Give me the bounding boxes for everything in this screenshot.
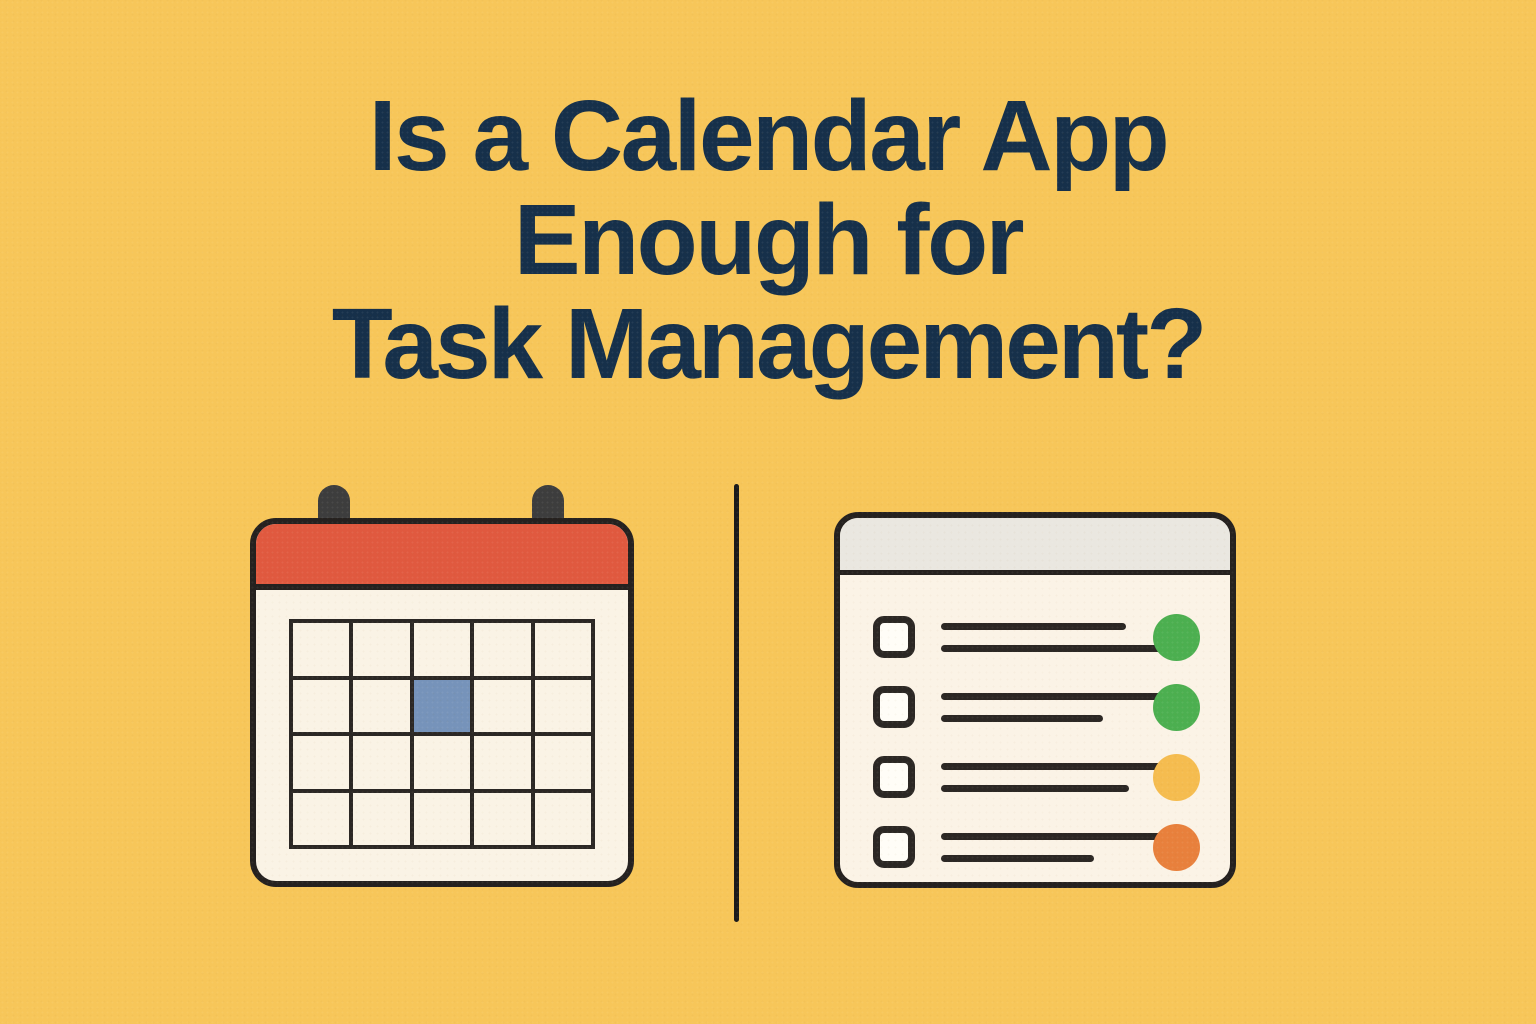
calendar-day-cell[interactable]	[535, 736, 595, 793]
task-status-dot[interactable]	[1153, 614, 1200, 661]
calendar-icon	[250, 485, 634, 887]
calendar-day-cell[interactable]	[293, 793, 353, 850]
calendar-day-cell[interactable]	[535, 793, 595, 850]
page-title-line-1: Is a Calendar App	[0, 84, 1536, 188]
calendar-day-cell[interactable]	[414, 623, 474, 680]
page-title-line-2: Enough for	[0, 188, 1536, 292]
calendar-day-cell[interactable]	[474, 623, 534, 680]
task-checkbox[interactable]	[873, 826, 915, 868]
calendar-day-cell[interactable]	[414, 736, 474, 793]
task-text-line	[941, 715, 1103, 722]
vertical-divider	[734, 484, 739, 922]
calendar-grid	[289, 619, 595, 849]
task-text-line	[941, 785, 1129, 792]
page-title-line-3: Task Management?	[0, 292, 1536, 396]
task-status-dot[interactable]	[1153, 684, 1200, 731]
task-text-line	[941, 623, 1126, 630]
task-checkbox[interactable]	[873, 686, 915, 728]
task-text-line	[941, 693, 1169, 700]
task-text-line	[941, 645, 1169, 652]
task-list-header-bar	[840, 518, 1230, 575]
task-list-rows	[840, 580, 1230, 882]
calendar-day-cell[interactable]	[414, 793, 474, 850]
task-text-line	[941, 833, 1166, 840]
calendar-day-cell[interactable]	[474, 793, 534, 850]
task-status-dot[interactable]	[1153, 824, 1200, 871]
calendar-day-cell[interactable]	[353, 680, 413, 737]
calendar-day-cell[interactable]	[535, 680, 595, 737]
task-row[interactable]	[840, 742, 1230, 812]
task-text-line	[941, 855, 1094, 862]
task-row[interactable]	[840, 812, 1230, 882]
task-checkbox[interactable]	[873, 756, 915, 798]
calendar-body	[250, 518, 634, 887]
calendar-day-cell[interactable]	[353, 736, 413, 793]
calendar-day-cell[interactable]	[293, 680, 353, 737]
page-title: Is a Calendar App Enough for Task Manage…	[0, 84, 1536, 396]
calendar-day-cell[interactable]	[474, 680, 534, 737]
task-row[interactable]	[840, 602, 1230, 672]
calendar-day-cell[interactable]	[353, 623, 413, 680]
task-row[interactable]	[840, 672, 1230, 742]
calendar-day-cell[interactable]	[474, 736, 534, 793]
task-list-panel	[834, 512, 1236, 888]
task-checkbox[interactable]	[873, 616, 915, 658]
calendar-header-band	[256, 524, 628, 590]
calendar-day-cell[interactable]	[535, 623, 595, 680]
calendar-day-cell-selected[interactable]	[414, 680, 474, 737]
calendar-day-cell[interactable]	[353, 793, 413, 850]
task-text-line	[941, 763, 1181, 770]
task-status-dot[interactable]	[1153, 754, 1200, 801]
calendar-day-cell[interactable]	[293, 623, 353, 680]
calendar-day-cell[interactable]	[293, 736, 353, 793]
